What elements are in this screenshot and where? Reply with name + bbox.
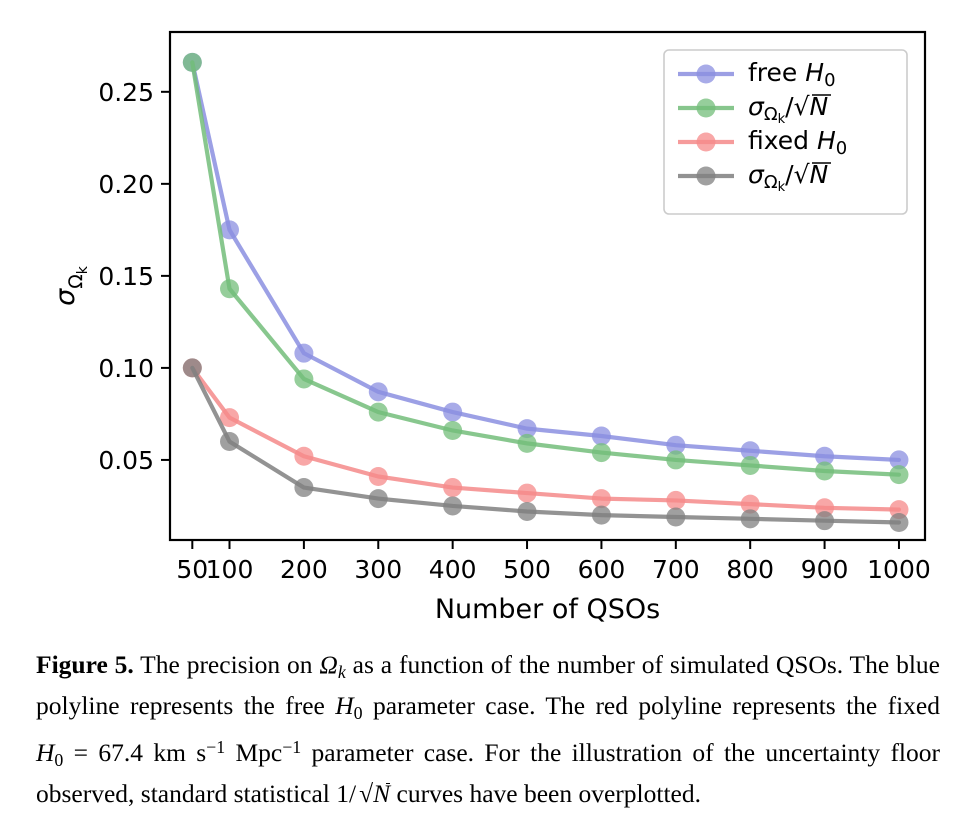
data-point: [220, 432, 239, 451]
data-point: [443, 403, 462, 422]
caption-h0-a-sub: 0: [354, 703, 363, 723]
data-point: [741, 509, 760, 528]
x-tick-label-400: 400: [429, 555, 477, 584]
data-point: [369, 382, 388, 401]
data-point: [666, 450, 685, 469]
legend-swatch-marker-2: [697, 133, 716, 152]
legend-swatch-marker-3: [697, 167, 716, 186]
caption-text-3: parameter case. The red polyline represe…: [363, 691, 940, 720]
data-point: [666, 507, 685, 526]
caption-units-km: km s: [153, 738, 206, 767]
data-point: [294, 478, 313, 497]
figure-page: 5010020030040050060070080090010000.050.1…: [0, 0, 976, 824]
x-tick-label-50: 50: [176, 555, 208, 584]
y-tick-label-0.25: 0.25: [98, 78, 154, 107]
data-point: [294, 447, 313, 466]
x-tick-label-900: 900: [801, 555, 849, 584]
data-point: [443, 421, 462, 440]
x-tick-label-1000: 1000: [867, 555, 931, 584]
caption-h0-a: H: [335, 691, 353, 720]
data-point: [369, 489, 388, 508]
x-tick-label-500: 500: [503, 555, 551, 584]
data-point: [592, 443, 611, 462]
data-point: [369, 467, 388, 486]
legend-swatch-marker-1: [697, 99, 716, 118]
data-point: [183, 53, 202, 72]
chart-legend[interactable]: free H0σΩk/√Nfixed H0σΩk/√N: [664, 50, 907, 214]
data-point: [220, 279, 239, 298]
x-tick-label-800: 800: [726, 555, 774, 584]
data-point: [294, 344, 313, 363]
chart-figure: 5010020030040050060070080090010000.050.1…: [0, 0, 976, 640]
x-tick-label-100: 100: [206, 555, 254, 584]
x-tick-label-200: 200: [280, 555, 328, 584]
caption-text-5: curves have been overplotted.: [390, 779, 701, 808]
data-point: [889, 513, 908, 532]
caption-units-mpc-exponent: −1: [282, 737, 301, 757]
legend-swatch-marker-0: [697, 65, 716, 84]
svg-text:σΩk: σΩk: [50, 265, 91, 306]
data-point: [518, 434, 537, 453]
data-point: [815, 461, 834, 480]
caption-omega-k: Ω: [319, 650, 337, 679]
x-tick-label-300: 300: [354, 555, 402, 584]
data-point: [443, 478, 462, 497]
series-2: [183, 358, 909, 519]
caption-omega-k-sub: k: [338, 662, 346, 682]
data-point: [741, 456, 760, 475]
data-point: [815, 511, 834, 530]
y-tick-label-0.05: 0.05: [98, 446, 154, 475]
x-tick-label-600: 600: [578, 555, 626, 584]
data-point: [369, 403, 388, 422]
caption-h0-b-sub: 0: [54, 750, 63, 770]
y-tick-label-0.15: 0.15: [98, 262, 154, 291]
data-point: [183, 358, 202, 377]
data-point: [518, 502, 537, 521]
data-point: [666, 491, 685, 510]
data-point: [592, 489, 611, 508]
data-point: [443, 496, 462, 515]
figure-caption: Figure 5. The precision on Ωk as a funct…: [36, 648, 940, 811]
legend-label-0: free H0: [748, 58, 836, 91]
caption-h0-b: H: [36, 738, 54, 767]
y-tick-label-0.20: 0.20: [98, 170, 154, 199]
x-tick-label-700: 700: [652, 555, 700, 584]
caption-h0-value: = 67.4: [63, 738, 143, 767]
caption-sqrt-n: √N: [356, 777, 390, 811]
caption-units-km-exponent: −1: [206, 737, 225, 757]
y-axis-title: σΩk: [50, 265, 91, 306]
caption-label: Figure 5.: [36, 650, 134, 679]
data-point: [592, 506, 611, 525]
caption-units-mpc: Mpc: [235, 738, 282, 767]
legend-label-2: fixed H0: [748, 126, 847, 159]
data-point: [889, 465, 908, 484]
data-point: [518, 484, 537, 503]
data-point: [294, 369, 313, 388]
data-point: [592, 427, 611, 446]
x-axis-title: Number of QSOs: [435, 594, 660, 625]
y-tick-label-0.10: 0.10: [98, 354, 154, 383]
caption-text-1: The precision on: [134, 650, 320, 679]
chart-svg: 5010020030040050060070080090010000.050.1…: [0, 0, 976, 640]
